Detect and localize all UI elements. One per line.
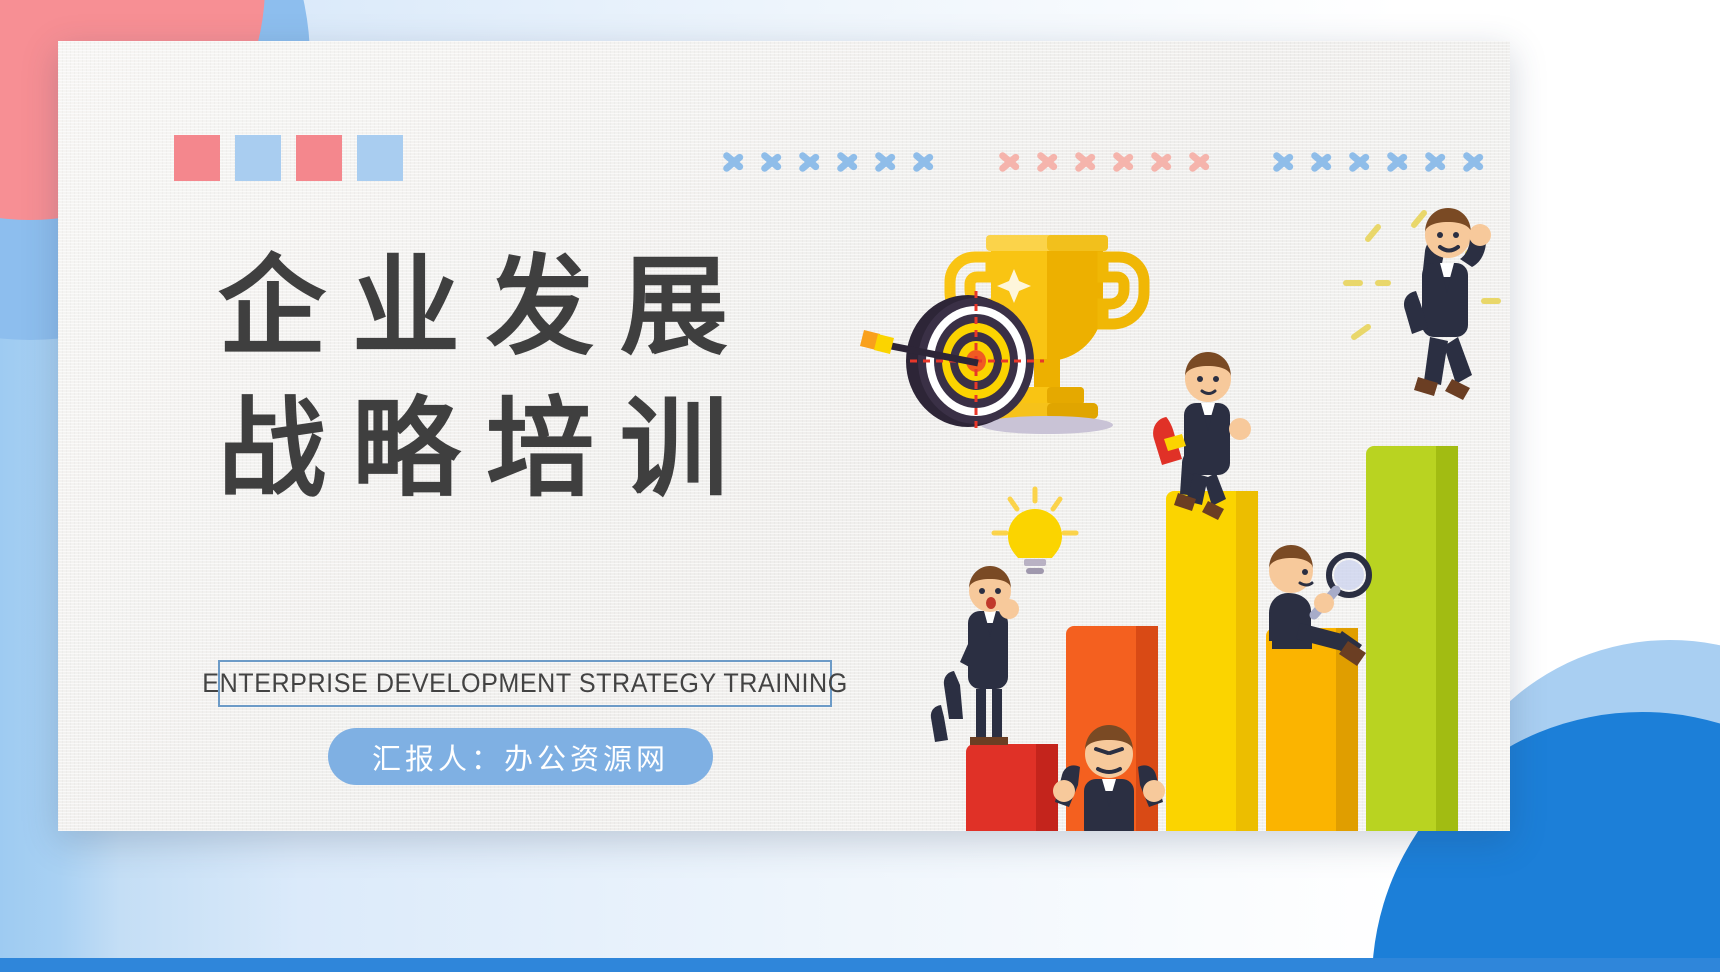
bar-5 (1366, 446, 1458, 831)
presentation-slide: 企业发展 战略培训 ENTERPRISE DEVELOPMENT STRATEG… (0, 0, 1720, 972)
title-line-1: 企业发展 (218, 237, 754, 379)
chevron-right-icon (1384, 137, 1414, 185)
bar-3 (1166, 491, 1258, 831)
lightbulb-icon (994, 489, 1076, 574)
businessman-jumping (1346, 208, 1498, 400)
businessman-standing (931, 566, 1019, 745)
subtitle-box: ENTERPRISE DEVELOPMENT STRATEGY TRAINING (218, 660, 832, 707)
bar-1 (966, 744, 1058, 831)
chevron-right-icon (1148, 137, 1178, 185)
title-line-2: 战略培训 (218, 379, 754, 521)
presenter-badge: 汇报人：办公资源网 (328, 728, 713, 785)
page-title: 企业发展 战略培训 (218, 237, 754, 521)
chevron-right-icon (1460, 137, 1490, 185)
chevron-right-icon (1308, 137, 1338, 185)
chevron-group-blue-right (1270, 137, 1490, 185)
decorative-square-2 (235, 135, 281, 181)
chevron-right-icon (1270, 137, 1300, 185)
chevron-right-icon (796, 137, 826, 185)
chevron-right-icon (996, 137, 1026, 185)
chevron-right-icon (1186, 137, 1216, 185)
bottom-accent-strip (0, 958, 1720, 972)
subtitle-text: ENTERPRISE DEVELOPMENT STRATEGY TRAINING (202, 668, 848, 699)
slide-card: 企业发展 战略培训 ENTERPRISE DEVELOPMENT STRATEG… (58, 41, 1510, 831)
chevron-right-icon (910, 137, 940, 185)
chevron-right-icon (1034, 137, 1064, 185)
chevron-right-icon (1072, 137, 1102, 185)
chevron-group-blue-left (720, 137, 940, 185)
bar-4 (1266, 628, 1358, 831)
chevron-group-pink-middle (996, 137, 1216, 185)
business-growth-illustration (848, 191, 1508, 831)
decorative-square-1 (174, 135, 220, 181)
chevron-right-icon (720, 137, 750, 185)
decorative-square-row (174, 135, 403, 181)
decorative-square-3 (296, 135, 342, 181)
chevron-right-icon (1422, 137, 1452, 185)
chevron-right-icon (1346, 137, 1376, 185)
chevron-right-icon (834, 137, 864, 185)
chevron-right-icon (1110, 137, 1140, 185)
chevron-right-icon (872, 137, 902, 185)
decorative-square-4 (357, 135, 403, 181)
presenter-text: 汇报人：办公资源网 (372, 736, 669, 778)
chevron-right-icon (758, 137, 788, 185)
